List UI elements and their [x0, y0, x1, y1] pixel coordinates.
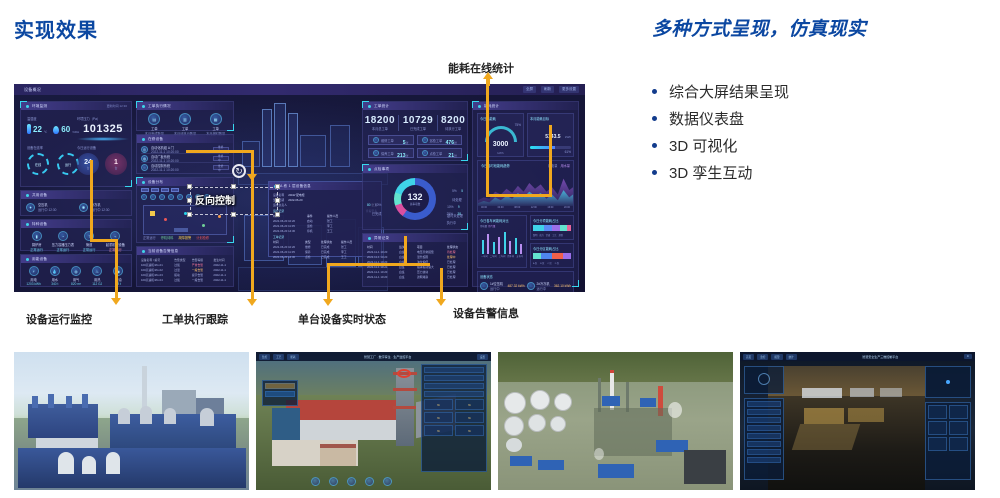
camera-tile[interactable]: [949, 421, 968, 435]
list-item[interactable]: ♨ 用热 112 GJ: [88, 266, 107, 286]
twin-left-menu[interactable]: [262, 380, 298, 406]
blue-building: [510, 456, 532, 466]
cell: 已完成: [321, 250, 337, 254]
racking: [848, 408, 884, 422]
bar: [487, 234, 489, 254]
env-pressure-value: 101325: [77, 123, 129, 135]
list-item[interactable]: ⚡ 用电 1203 kWh: [24, 266, 43, 286]
list-item[interactable]: [747, 433, 781, 439]
zone-dot-icon: [150, 194, 156, 200]
slice-label: 已完成: [367, 211, 381, 216]
total-item: 18200 本月总工单: [365, 115, 395, 131]
ring-label: 在线: [35, 162, 41, 167]
cell: 2022-11-1: [213, 268, 229, 272]
gallery-item-refinery-aerial[interactable]: [498, 352, 733, 490]
slice-value: 80: [367, 203, 371, 207]
list-item[interactable]: 💧 用水 340 t: [45, 266, 64, 286]
twin-title: 智慧工厂 · 数字孪生 · 生产监控平台: [302, 355, 474, 359]
bullet-label: 3D 孪生互动: [669, 162, 752, 183]
axis-tick: 五车间: [516, 254, 523, 258]
selection-handle[interactable]: [275, 184, 280, 189]
toolbar-icon[interactable]: [329, 477, 338, 486]
column-header: 项目: [417, 245, 443, 249]
dashboard-title-bar: 设备概况 全屏 刷新 更多设置: [14, 84, 585, 95]
callout-line: [549, 125, 552, 197]
water-icon: 💧: [50, 266, 60, 276]
status-dot-icon: [142, 138, 145, 141]
donut-center: 132 总事项数: [401, 185, 429, 213]
list-item[interactable]: ◍ 用气 820 m³: [66, 266, 85, 286]
gas-icon: ◍: [71, 266, 81, 276]
legend-item: D 区: [555, 261, 559, 265]
column-header: 时间: [273, 240, 301, 244]
cell: 张工: [341, 245, 355, 249]
tank: [200, 408, 214, 426]
list-item[interactable]: [747, 401, 781, 407]
table-row[interactable]: 2022-11-1 10:20 白班 滤网堵塞 已处理: [367, 274, 463, 279]
tower-band: [393, 406, 417, 409]
stat-chip[interactable]: 保养工单 213张: [368, 148, 414, 158]
status-dot-icon: [142, 181, 145, 184]
legend-item: 其他: [559, 233, 563, 237]
chart-title: 今日各车间能耗对比: [480, 218, 524, 223]
donut-ring: 132 总事项数: [394, 178, 436, 220]
device-sub: 运行中: [537, 286, 552, 291]
cell: 2022-06-20 14:30: [273, 229, 303, 233]
cell: 振动: [174, 273, 188, 277]
alert-icon: ▦: [210, 113, 222, 125]
segment: [533, 225, 544, 231]
panel-workorder-list: 异常记录 时间 班次 项目 处理状态 2022-11-1 10:20 白班 电压…: [362, 233, 468, 287]
status-badge: 维修中: [213, 165, 229, 170]
panel-common-device: 共用设备 ✦ 空压机 运行中 12:30 ✱ 冷冻机 运行中: [20, 190, 132, 216]
donut-center-value: 132: [407, 192, 422, 202]
device-sub: 1203 kWh: [24, 282, 43, 286]
plant-column: [66, 396, 72, 408]
stat-chip[interactable]: 点检工单 21张: [417, 148, 463, 158]
nav-item[interactable]: 设置: [477, 354, 488, 360]
forest-bg: [498, 352, 733, 386]
clipboard-icon: ▥: [179, 113, 191, 125]
list-item[interactable]: [424, 391, 484, 397]
nav-item[interactable]: ⚙: [964, 354, 972, 359]
env-humidity-value: 60: [61, 125, 70, 134]
list-item[interactable]: ▮ 锅炉房 正常运行: [25, 231, 48, 252]
energy-stack-bottom: 今日分区能耗占比 A 区 B 区 C 区 D: [530, 243, 574, 268]
list-item[interactable]: [424, 383, 484, 389]
tank: [82, 456, 96, 474]
blue-unit: [272, 408, 300, 442]
nav-item[interactable]: 监控: [259, 354, 270, 360]
legend-item: A 区: [533, 261, 537, 265]
nav-item[interactable]: 统计: [786, 354, 797, 360]
total-item: 8200 待执行工单: [441, 115, 465, 131]
cell: 一般告警: [192, 268, 210, 272]
cell: 待处理: [447, 250, 463, 254]
selection-handle[interactable]: [187, 198, 192, 203]
list-item[interactable]: ◉ 用油 68 t: [109, 266, 128, 286]
filter-chip[interactable]: [171, 188, 179, 192]
nav-item[interactable]: 工艺: [273, 354, 284, 360]
interior-camera-grid-panel[interactable]: [925, 402, 971, 480]
donut-label: 25% 38 执行中: [447, 202, 461, 225]
selection-handle[interactable]: [231, 212, 236, 217]
callout-line: [486, 78, 489, 196]
panel-header: 特种设备: [21, 220, 131, 228]
panel-title: 点检事项: [374, 167, 389, 172]
list-item[interactable]: [747, 449, 781, 455]
donut-chart: 132 总事项数 80 60% 已完成 5% 5 待处理: [363, 173, 467, 229]
cell: 2022-06-20 11:05: [273, 250, 301, 254]
twin-top-bar[interactable]: 监控 工艺 能耗 智慧工厂 · 数字孪生 · 生产监控平台 设置: [256, 352, 491, 361]
total-value: 10729: [403, 115, 433, 126]
cell: 2022-11-1 10:20: [367, 250, 395, 254]
slice-label: 执行中: [447, 220, 461, 225]
device-sub: 运行中: [490, 286, 505, 291]
interior-left-top-panel[interactable]: [744, 366, 784, 394]
slice-percent: 25%: [447, 212, 453, 216]
ring-label: 运行: [65, 162, 71, 167]
cell: 张工: [327, 219, 347, 223]
column-header: 操作人员: [327, 214, 347, 218]
device-value: 487.32 kWh: [507, 284, 524, 288]
column-header: 处理状态: [447, 245, 463, 249]
filter-chip[interactable]: [141, 188, 149, 192]
list-item[interactable]: [747, 457, 781, 463]
cell: 2022-06-20 10:20: [273, 219, 303, 223]
wrench-icon: [373, 137, 379, 143]
workorder-table: 时间 班次 项目 处理状态 2022-11-1 10:20 白班 电压异常报警 …: [363, 242, 467, 281]
device-sub: 340 t: [45, 282, 64, 286]
model-tower: [274, 103, 286, 167]
gallery-item-plant-blue[interactable]: [14, 352, 249, 490]
stack: [598, 378, 601, 412]
table-row[interactable]: 10#高速机/ZG-04 过载 一般告警 2022-11-1: [141, 277, 229, 282]
dashboard-window-tools[interactable]: 全屏 刷新 更多设置: [523, 86, 579, 93]
status-dot-icon: [26, 194, 29, 197]
device-time: 2022-11-1 10:20:00: [151, 168, 210, 172]
map-zone: [174, 228, 188, 232]
env-counter-caption: 今日运行设备: [77, 145, 129, 150]
device-sub: 运行中 12:30: [38, 207, 56, 212]
car-icon: [422, 137, 428, 143]
tool-refresh[interactable]: 刷新: [541, 86, 554, 93]
cell: 白班: [399, 275, 413, 279]
list-item[interactable]: ▤ 工单 本月完成数量: [141, 113, 168, 136]
status-dot-icon: [368, 237, 371, 240]
list-item[interactable]: ✱ 冷冻机 运行中 12:30: [79, 202, 126, 212]
callout-label: 单台设备实时状态: [298, 311, 386, 327]
kpi-card[interactable]: %: [455, 412, 484, 423]
bolt-icon: ⚡: [29, 266, 39, 276]
cell: 已处理: [447, 260, 463, 264]
callout-line: [327, 263, 330, 302]
axis-tick: 00:00: [481, 206, 487, 209]
list-item[interactable]: [424, 375, 484, 381]
axis-tick: 三车间: [499, 254, 506, 258]
energy-trend-chart: 今日各时段能耗趋势 用电量 用水量: [477, 160, 574, 212]
cell: 过载: [174, 278, 188, 282]
plant-column: [82, 394, 88, 408]
tank: [140, 406, 152, 424]
legend-item: B 区: [540, 261, 544, 265]
status-dot-icon: [368, 168, 371, 171]
alarm-table: 设备名称 / 编号 告警类型 告警等级 发生时间 10#高速机/ZG-01 过载…: [137, 255, 233, 284]
callout-label: 能耗在线统计: [448, 60, 514, 76]
gallery-strip: 监控 工艺 能耗 智慧工厂 · 数字孪生 · 生产监控平台 设置: [14, 352, 986, 490]
legend-item: 照明: [533, 233, 537, 237]
list-item[interactable]: ✦ 空压机 运行中 12:30: [26, 202, 73, 212]
callout-line: [404, 263, 430, 266]
cell: 2022-06-20 14:30: [273, 255, 301, 259]
slide-page: 实现效果 多种方式呈现，仿真现实 综合大屏结果呈现 数据仪表盘 3D 可视化 3…: [0, 0, 1000, 498]
axis-tick: 四车间: [508, 254, 515, 258]
cell: 已完成: [321, 255, 337, 259]
list-item[interactable]: ◌ 自动控制系统 2022-11-1 10:20:00 维修中: [141, 163, 229, 172]
axis-tick: 12:00: [531, 206, 537, 209]
legend-item: 空调: [546, 233, 550, 237]
gauge-ring-online: 在线: [27, 153, 49, 175]
chip-label: 维修工单: [381, 138, 394, 143]
map-marker[interactable]: [218, 215, 221, 218]
axis-tick: 一车间: [481, 254, 488, 258]
table-row[interactable]: 10#高速机/ZG-01 过载 严重告警 2022-11-1: [141, 262, 229, 267]
camera-tile[interactable]: [949, 405, 968, 419]
cell: 已处理: [447, 275, 463, 279]
panel-title: 异常记录: [374, 236, 389, 241]
model-block: [330, 125, 350, 167]
boiler-icon: ▮: [32, 231, 42, 241]
callout-line: [251, 176, 254, 302]
minimap-marker[interactable]: [946, 380, 950, 384]
legend-item: 用水量: [560, 163, 570, 168]
dashboard-canvas: 设备概况 全屏 刷新 更多设置 环境监测 更新时间 12:30 温湿度: [14, 84, 585, 292]
bullet-dot-icon: [652, 116, 657, 121]
list-item[interactable]: ▥ 工单 本月待执行数量: [172, 113, 199, 136]
callout-label: 设备运行监控: [26, 311, 92, 327]
list-item[interactable]: [747, 441, 781, 447]
bar: [482, 240, 484, 254]
cell: 严重告警: [192, 263, 210, 267]
selection-handle[interactable]: [275, 198, 280, 203]
camera-tile[interactable]: [928, 405, 947, 419]
stacked-bar: [533, 253, 571, 259]
twin-right-panel[interactable]: % % % % % %: [421, 364, 487, 472]
selection-handle[interactable]: [275, 212, 280, 217]
list-item[interactable]: [747, 425, 781, 431]
list-item[interactable]: [747, 417, 781, 423]
selection-handle[interactable]: [231, 184, 236, 189]
panel-title: 共用设备: [32, 193, 47, 198]
callout-label: 设备告警信息: [453, 305, 519, 321]
device-sub: 68 t: [109, 282, 128, 286]
callout-line: [186, 150, 254, 153]
device-time: 2022-11-1 10:20:00: [151, 159, 210, 163]
panel-header: 点检事项: [363, 165, 467, 173]
area-chart-svg: [478, 170, 573, 206]
zone-dot-icon: [168, 194, 174, 200]
rotate-icon[interactable]: ↻: [232, 164, 246, 178]
toolbar-icon[interactable]: [347, 477, 356, 486]
legend-item: 故障报警: [179, 235, 192, 240]
device-sub: 820 m³: [66, 282, 85, 286]
chip-unit: 张: [405, 154, 408, 158]
panel-title: 设备状态: [480, 274, 571, 279]
cell: 维修: [305, 245, 317, 249]
legend-item: 停机待料: [161, 235, 174, 240]
map-marker[interactable]: [164, 218, 167, 221]
table-row[interactable]: 10#高速机/ZG-02 过温 一般告警 2022-11-1: [141, 267, 229, 272]
panel-environment: 环境监测 更新时间 12:30 温湿度 22 ℃ 60: [20, 101, 132, 187]
panel-header: 共用设备: [21, 191, 131, 199]
list-item[interactable]: [747, 409, 781, 415]
counter-unit: 台: [114, 166, 117, 170]
panel-update-time: 更新时间 12:30: [107, 104, 127, 108]
legend-item: 工艺: [552, 233, 556, 237]
segment: [560, 225, 568, 231]
chart-title: 今日分项能耗占比: [533, 218, 571, 223]
bar: [515, 238, 517, 254]
coal-yard: [684, 450, 726, 484]
device-value: 362.10 kWh: [554, 284, 571, 288]
feature-bullet-list: 综合大屏结果呈现 数据仪表盘 3D 可视化 3D 孪生互动: [652, 78, 982, 186]
twin-bottom-toolbar[interactable]: [311, 477, 392, 486]
column-header: 类型: [305, 240, 317, 244]
kpi-card[interactable]: %: [424, 399, 453, 410]
panel-title: 工单统计: [374, 104, 389, 109]
selection-handle[interactable]: [187, 184, 192, 189]
menu-item[interactable]: [265, 383, 295, 389]
chart-title: 今日分区能耗占比: [533, 246, 571, 251]
document-icon: ▤: [148, 113, 160, 125]
plant-column: [32, 396, 38, 408]
device-sub: 正常运行: [51, 247, 74, 252]
alarm-marker-icon[interactable]: [397, 369, 411, 378]
cell: 2022-06-20 11:05: [273, 224, 303, 228]
kpi-card[interactable]: %: [455, 399, 484, 410]
env-temp-unit: ℃: [44, 130, 47, 134]
env-metric-group: 温湿度 22 ℃ 60 %RH: [27, 116, 79, 134]
map-marker[interactable]: [202, 224, 205, 227]
plant-column: [48, 394, 54, 408]
toolbar-icon[interactable]: [383, 477, 392, 486]
selection-handle[interactable]: [187, 212, 192, 217]
list-item[interactable]: 2#冷冻机 运行中 362.10 kWh: [527, 281, 572, 291]
status-ring-icon: [758, 373, 770, 385]
gallery-item-interior-night[interactable]: 首页 监控 报警 统计 智慧安全生产三维控制平台 ⚙: [740, 352, 975, 490]
panel-maintain-device: 在修设备 ◎ 自动化机组 A 门 2022-11-1 10:20:00 维修中: [136, 134, 234, 174]
toolbar-icon[interactable]: [311, 477, 320, 486]
cell: 已完成: [321, 245, 337, 249]
donut-label: 80 60% 已完成: [367, 193, 381, 216]
axis-tick: 16:00: [547, 206, 553, 209]
nav-item[interactable]: 报警: [771, 354, 782, 360]
snow-icon: [527, 282, 535, 290]
nav-item[interactable]: 能耗: [287, 354, 298, 360]
cell: 提示告警: [192, 273, 210, 277]
energy-bar-chart: 今日各车间能耗对比 用电量 用气量: [477, 215, 527, 268]
axis-tick: 20:00: [564, 206, 570, 209]
env-temp-value: 22: [33, 125, 42, 134]
kpi-card[interactable]: %: [455, 425, 484, 436]
map-marker[interactable]: [150, 211, 155, 216]
bar: [504, 232, 506, 254]
bar: [520, 244, 522, 254]
steam-plume: [668, 402, 682, 418]
cell: 李工: [327, 224, 347, 228]
legend-item: C 区: [547, 261, 551, 265]
interior-minimap-panel[interactable]: [925, 366, 971, 398]
legend-item: 动力: [539, 233, 543, 237]
camera-tile[interactable]: [928, 437, 947, 451]
kpi-card[interactable]: %: [424, 412, 453, 423]
energy-device-status: 设备状态 1#空压机 运行中 487.32 kWh: [477, 271, 574, 292]
interior-left-list-panel[interactable]: [744, 398, 784, 480]
toolbar-icon[interactable]: [365, 477, 374, 486]
panel-title: 在修设备: [148, 137, 163, 142]
interior-top-bar[interactable]: 首页 监控 报警 统计 智慧安全生产三维控制平台 ⚙: [740, 352, 975, 361]
device-icon: ◍: [141, 155, 148, 162]
camera-tile[interactable]: [949, 437, 968, 451]
column-header: 设备名称 / 编号: [141, 258, 170, 262]
cell: 保养: [305, 250, 317, 254]
zone-dot-icon: [177, 194, 183, 200]
chip-label: 点检工单: [430, 151, 443, 156]
blue-building: [640, 398, 656, 407]
chip-unit: 张: [454, 154, 457, 158]
kpi-card[interactable]: %: [424, 425, 453, 436]
ramp: [792, 424, 860, 450]
tank: [106, 452, 120, 474]
table-row[interactable]: 10#高速机/ZG-03 振动 提示告警 2022-11-1: [141, 272, 229, 277]
list-item[interactable]: ◍ 自动广板系统 2022-11-1 10:20:00 维修中: [141, 154, 229, 163]
cell: 2022-11-1 10:20: [367, 270, 395, 274]
tank-farm: [502, 390, 590, 452]
callout-line: [90, 239, 118, 242]
tool-fullscreen[interactable]: 全屏: [523, 86, 536, 93]
list-item[interactable]: [424, 367, 484, 373]
nav-item[interactable]: 监控: [757, 354, 768, 360]
gallery-item-cement-twin[interactable]: 监控 工艺 能耗 智慧工厂 · 数字孪生 · 生产监控平台 设置: [256, 352, 491, 490]
cell: 温升超限: [417, 255, 443, 259]
steam-plume: [594, 448, 604, 460]
nav-item[interactable]: 首页: [743, 354, 754, 360]
tower-band: [393, 388, 417, 391]
camera-tile[interactable]: [928, 421, 947, 435]
filter-chip[interactable]: [161, 188, 169, 192]
page-title-left: 实现效果: [14, 14, 98, 43]
total-value: 8200: [441, 115, 465, 126]
total-value: 18200: [365, 115, 395, 126]
cell: 2022-11-1: [213, 273, 229, 277]
column-header: 事件: [307, 214, 323, 218]
interior-title: 智慧安全生产三维控制平台: [800, 355, 961, 359]
panel-header: 工单执行情况: [137, 102, 233, 110]
panel-title: 设备分布: [148, 180, 163, 185]
list-item[interactable]: 1#空压机 运行中 487.32 kWh: [480, 281, 525, 291]
status-dot-icon: [478, 105, 481, 108]
tank: [164, 408, 176, 424]
list-item[interactable]: ◔ 压力容器压力表 正常运行: [51, 231, 74, 252]
filter-chip[interactable]: [151, 188, 159, 192]
bullet-dot-icon: [652, 89, 657, 94]
env-ring-group: 设备在线率 在线 运行: [27, 145, 79, 175]
field-value: 2022-06-20: [288, 198, 302, 202]
menu-item[interactable]: [265, 391, 295, 397]
slice-percent: 60%: [375, 203, 381, 207]
list-item[interactable]: ▦ 工单 本月超时数量: [202, 113, 229, 136]
tool-settings[interactable]: 更多设置: [559, 86, 579, 93]
